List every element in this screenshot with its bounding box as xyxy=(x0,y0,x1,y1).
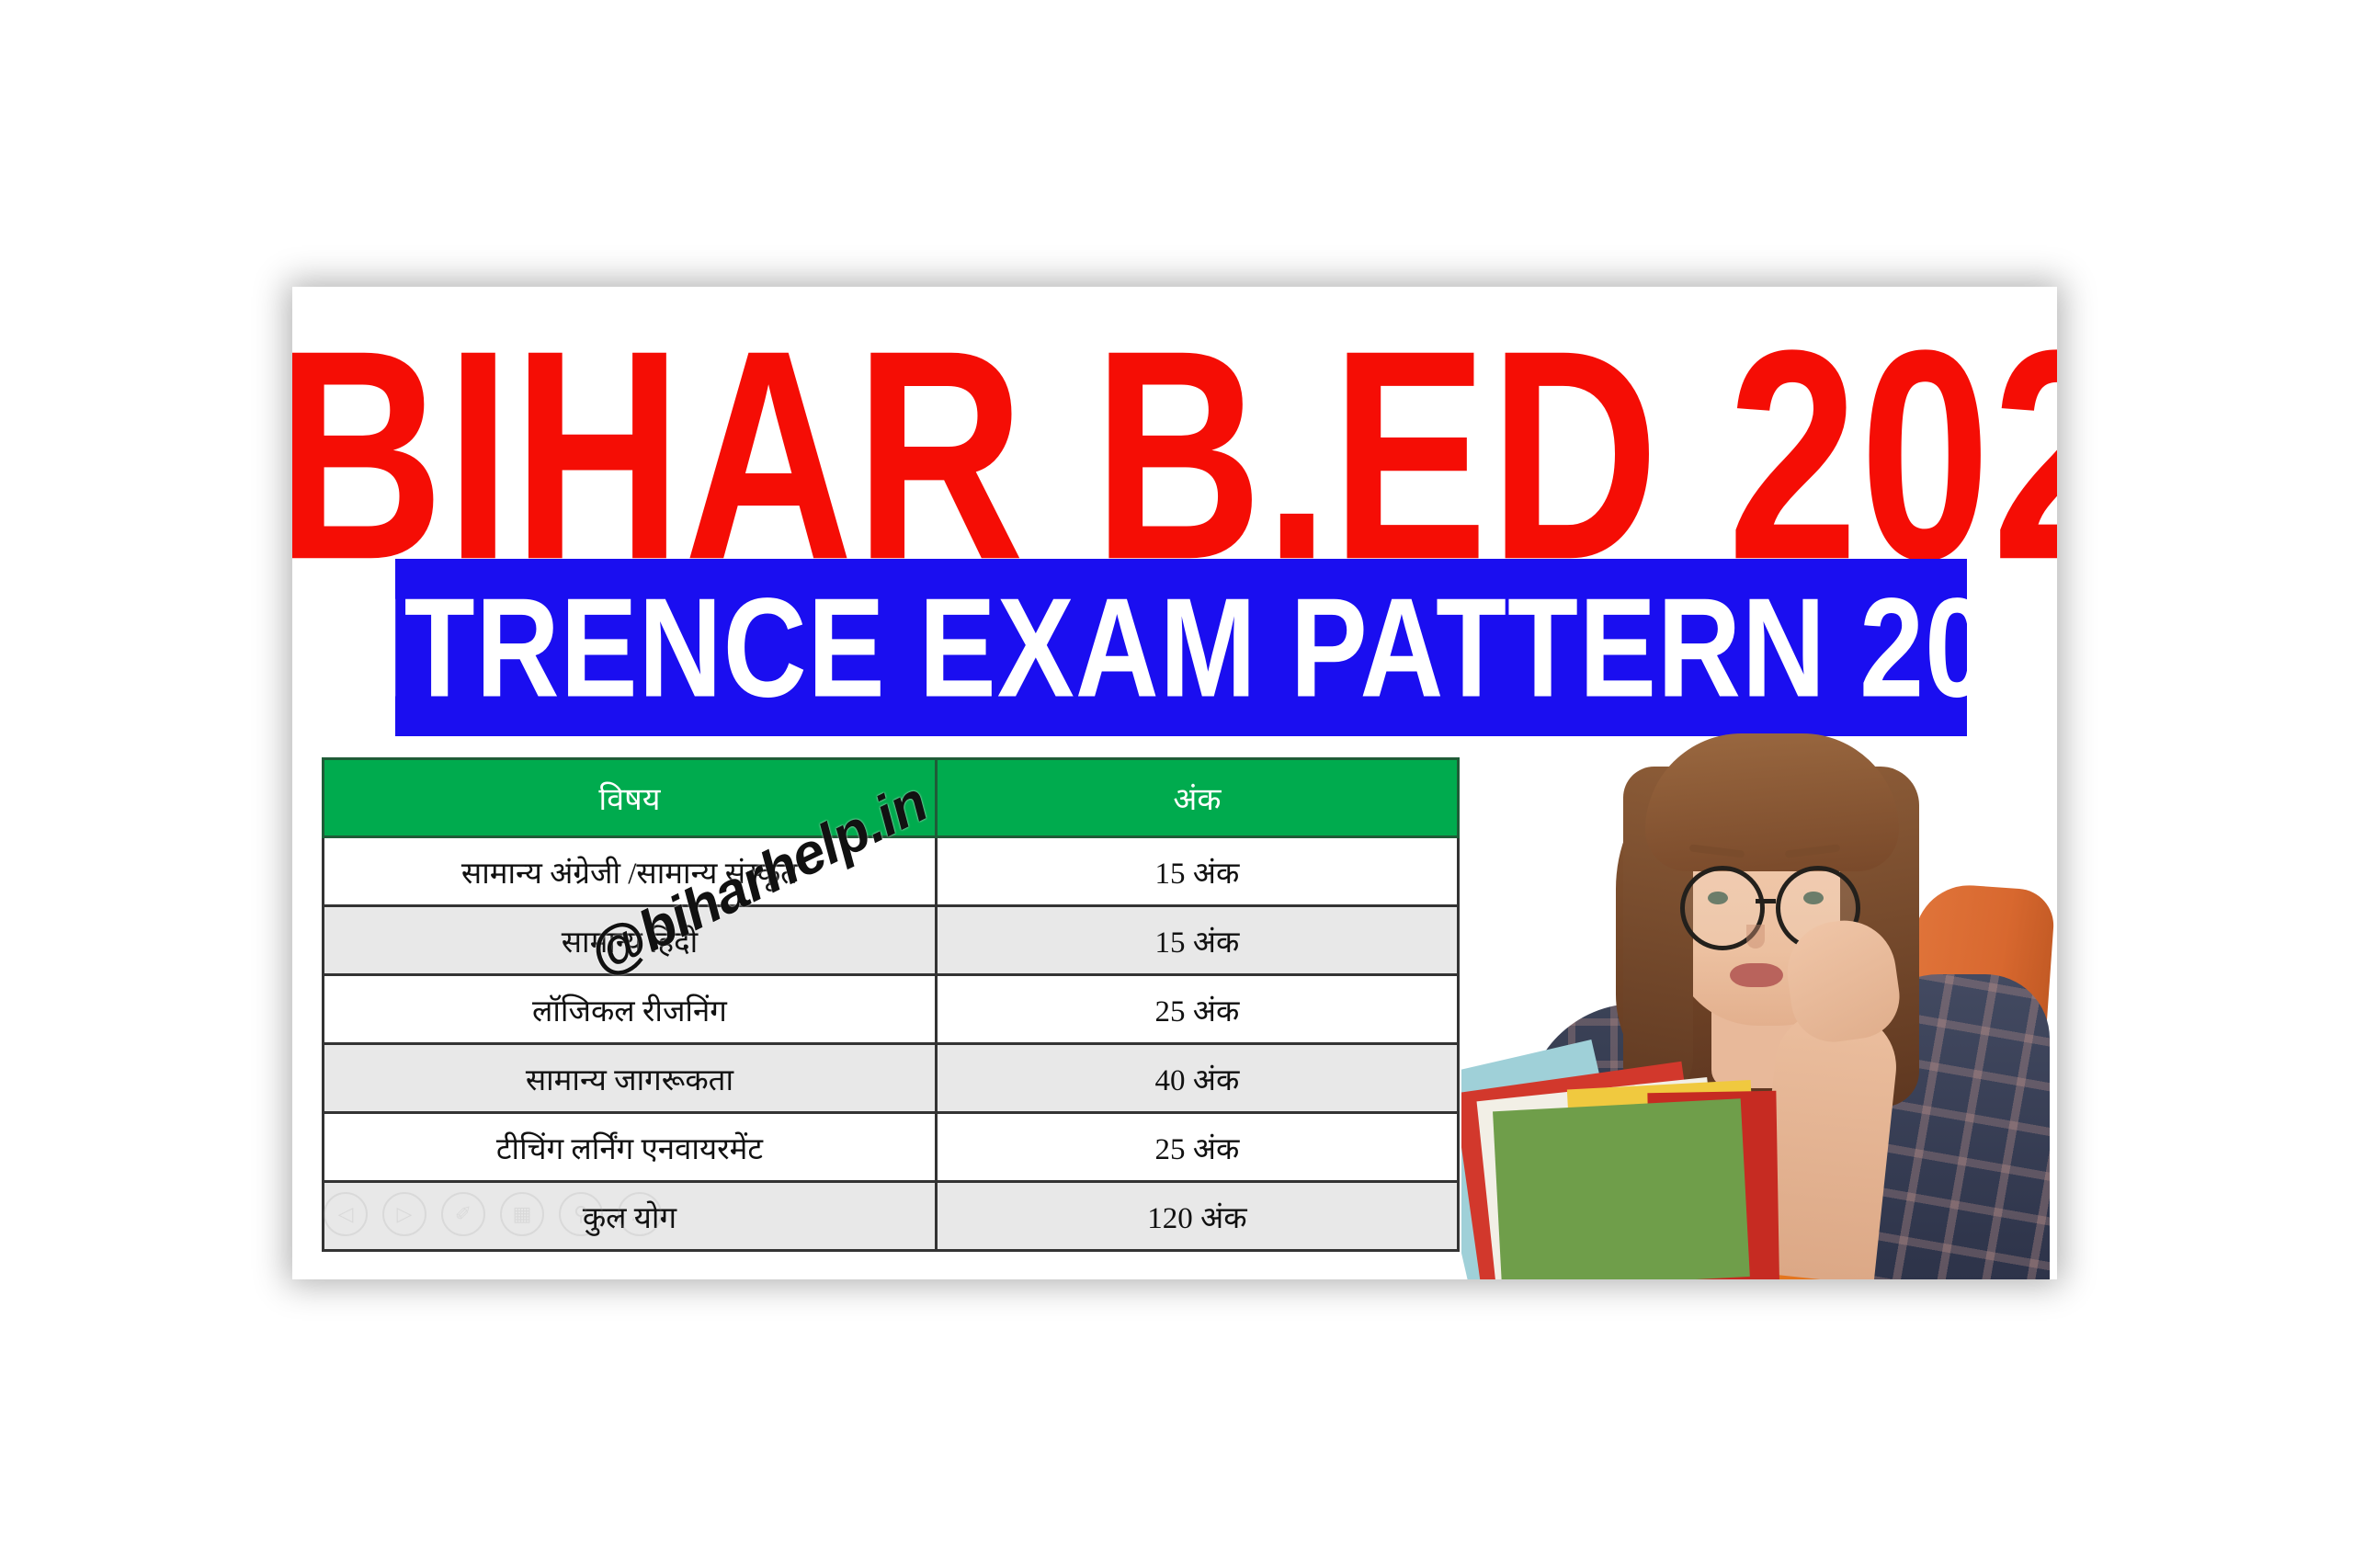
subtitle-text: ENTRENCE EXAM PATTERN 2025 xyxy=(395,577,1967,719)
cell-marks: 25 अंक xyxy=(936,1113,1458,1182)
cell-marks: 25 अंक xyxy=(936,975,1458,1044)
poster-card: BIHAR B.ED 2025 ENTRENCE EXAM PATTERN 20… xyxy=(292,287,2057,1279)
page-background: BIHAR B.ED 2025 ENTRENCE EXAM PATTERN 20… xyxy=(0,0,2353,1568)
table-row: लॉजिकल रीजनिंग 25 अंक xyxy=(324,975,1459,1044)
hair-fringe xyxy=(1645,733,1899,871)
table-row: कुल योग 120 अंक xyxy=(324,1182,1459,1251)
table-row: सामान्य जागरूकता 40 अंक xyxy=(324,1044,1459,1113)
cell-marks: 40 अंक xyxy=(936,1044,1458,1113)
eyeglasses-bridge xyxy=(1756,899,1776,903)
subtitle-banner: ENTRENCE EXAM PATTERN 2025 xyxy=(395,559,1967,736)
cell-subject: सामान्य जागरूकता xyxy=(324,1044,937,1113)
table-row: टीचिंग लर्निंग एनवायरमेंट 25 अंक xyxy=(324,1113,1459,1182)
column-header-marks: अंक xyxy=(936,759,1458,837)
cell-subject: लॉजिकल रीजनिंग xyxy=(324,975,937,1044)
notebook-green xyxy=(1493,1098,1750,1279)
cell-marks: 15 अंक xyxy=(936,837,1458,906)
mouth xyxy=(1730,963,1783,987)
cell-marks: 120 अंक xyxy=(936,1182,1458,1251)
table-row: सामान्य हिंदी 15 अंक xyxy=(324,906,1459,975)
nose xyxy=(1746,925,1765,949)
cell-subject: टीचिंग लर्निंग एनवायरमेंट xyxy=(324,1113,937,1182)
cell-marks: 15 अंक xyxy=(936,906,1458,975)
cell-subject: कुल योग xyxy=(324,1182,937,1251)
student-photo xyxy=(1461,711,2057,1279)
